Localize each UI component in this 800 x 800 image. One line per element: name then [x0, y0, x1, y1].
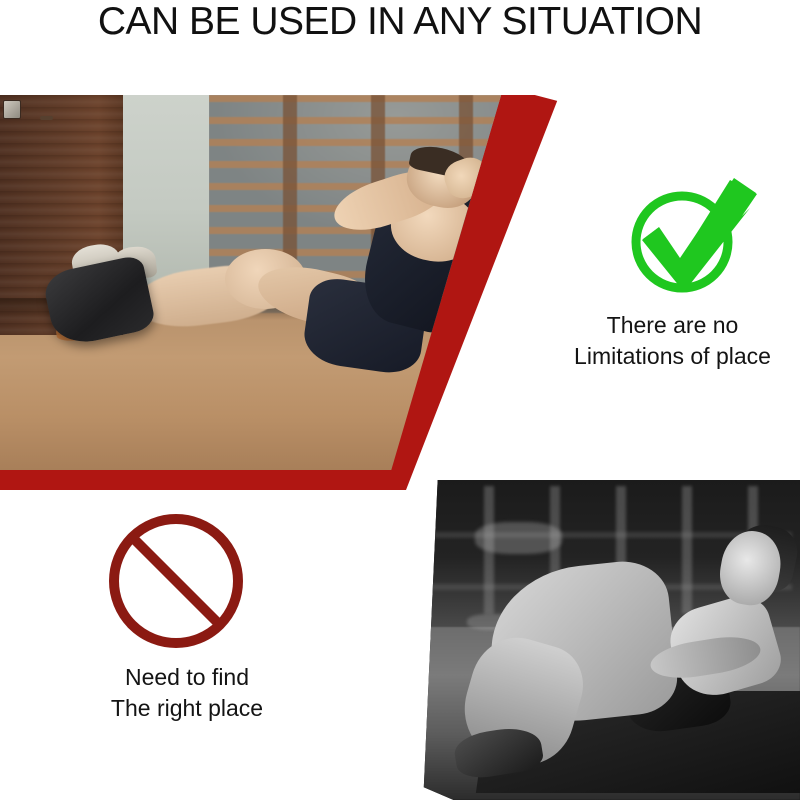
- pros-caption-line-1: There are no: [545, 310, 800, 341]
- page-title: CAN BE USED IN ANY SITUATION: [0, 0, 800, 48]
- cons-caption: Need to find The right place: [52, 662, 322, 724]
- woman-situp-photo: [404, 480, 800, 800]
- cons-caption-line-1: Need to find: [52, 662, 322, 693]
- door-handle-icon: [40, 116, 53, 120]
- check-circle-icon: [622, 168, 762, 308]
- prohibition-icon: [105, 510, 247, 652]
- pros-caption-line-2: Limitations of place: [545, 341, 800, 372]
- man-situp-photo-panel: [0, 95, 560, 490]
- product-feature-slide: CAN BE USED IN ANY SITUATION: [0, 0, 800, 800]
- gym-bench: [475, 522, 562, 554]
- pros-caption: There are no Limitations of place: [545, 310, 800, 372]
- door-lock-icon: [3, 100, 21, 119]
- cons-caption-line-2: The right place: [52, 693, 322, 724]
- bw-photo-scene: [404, 480, 800, 800]
